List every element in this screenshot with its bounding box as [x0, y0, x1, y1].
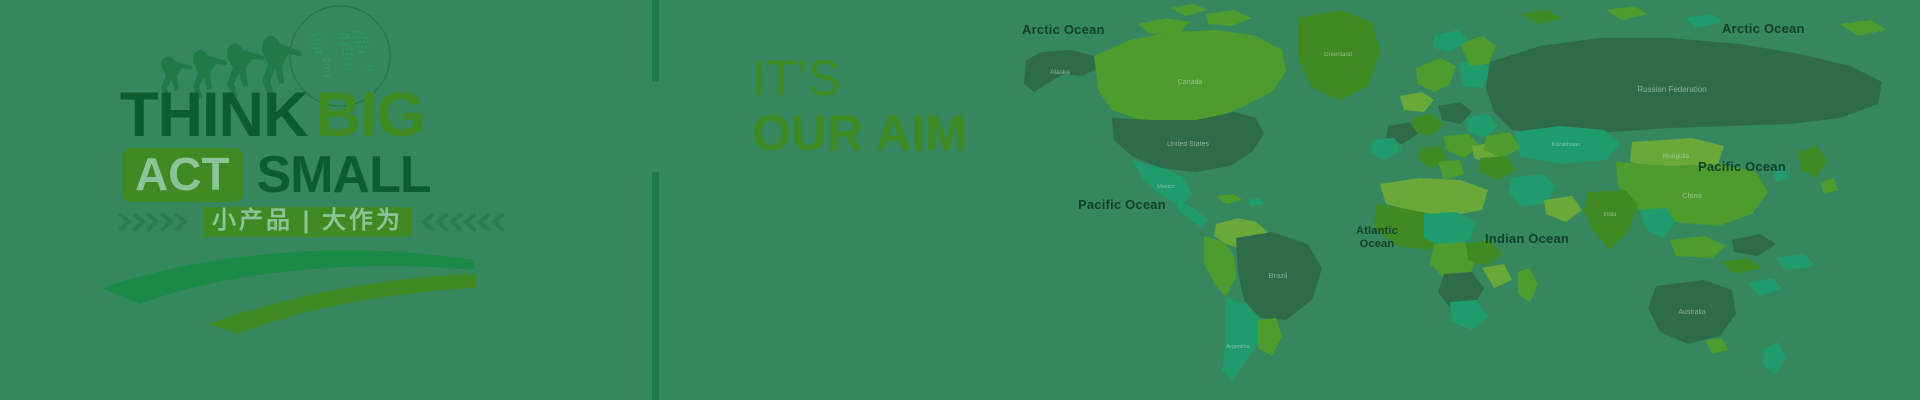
- swoosh-icon: [98, 248, 478, 338]
- svg-text:Australia: Australia: [1678, 309, 1705, 316]
- svg-text:Greenland: Greenland: [1324, 52, 1352, 58]
- act-chip: ACT: [122, 148, 243, 202]
- word-big: BIG: [315, 84, 424, 147]
- chevrons-right-icon: [118, 211, 194, 233]
- divider-bottom: [652, 172, 659, 400]
- svg-text:Kazakhstan: Kazakhstan: [1552, 142, 1581, 148]
- chevrons-left-icon: [421, 211, 511, 233]
- tagline-text: 小产品 | 大作为: [212, 207, 403, 234]
- svg-text:Russian Federation: Russian Federation: [1637, 85, 1706, 94]
- svg-text:Mexico: Mexico: [1157, 184, 1174, 190]
- tagline-row: 小产品 | 大作为: [118, 205, 511, 239]
- svg-text:China: China: [1682, 191, 1702, 200]
- headline-act-small: ACT SMALL: [122, 147, 431, 203]
- svg-text:Canada: Canada: [1178, 79, 1203, 86]
- headline-think-big: THINK BIG: [120, 84, 425, 146]
- svg-text:Mongolia: Mongolia: [1663, 153, 1690, 160]
- svg-text:Alaska: Alaska: [1050, 69, 1070, 76]
- svg-text:India: India: [1603, 212, 1617, 218]
- word-small: SMALL: [257, 149, 431, 201]
- svg-text:Brazil: Brazil: [1269, 271, 1288, 280]
- promo-banner: THINK BIG ACT SMALL: [0, 0, 1920, 400]
- svg-text:Argentina: Argentina: [1226, 344, 1250, 350]
- word-act: ACT: [135, 148, 230, 200]
- svg-text:United States: United States: [1167, 141, 1210, 148]
- brand-logo-block: THINK BIG ACT SMALL: [0, 0, 620, 400]
- tagline-chip: 小产品 | 大作为: [203, 207, 412, 237]
- word-think: THINK: [120, 84, 307, 147]
- world-map: Alaska Canada United States Mexico Green…: [1020, 0, 1920, 400]
- divider-top: [652, 0, 659, 82]
